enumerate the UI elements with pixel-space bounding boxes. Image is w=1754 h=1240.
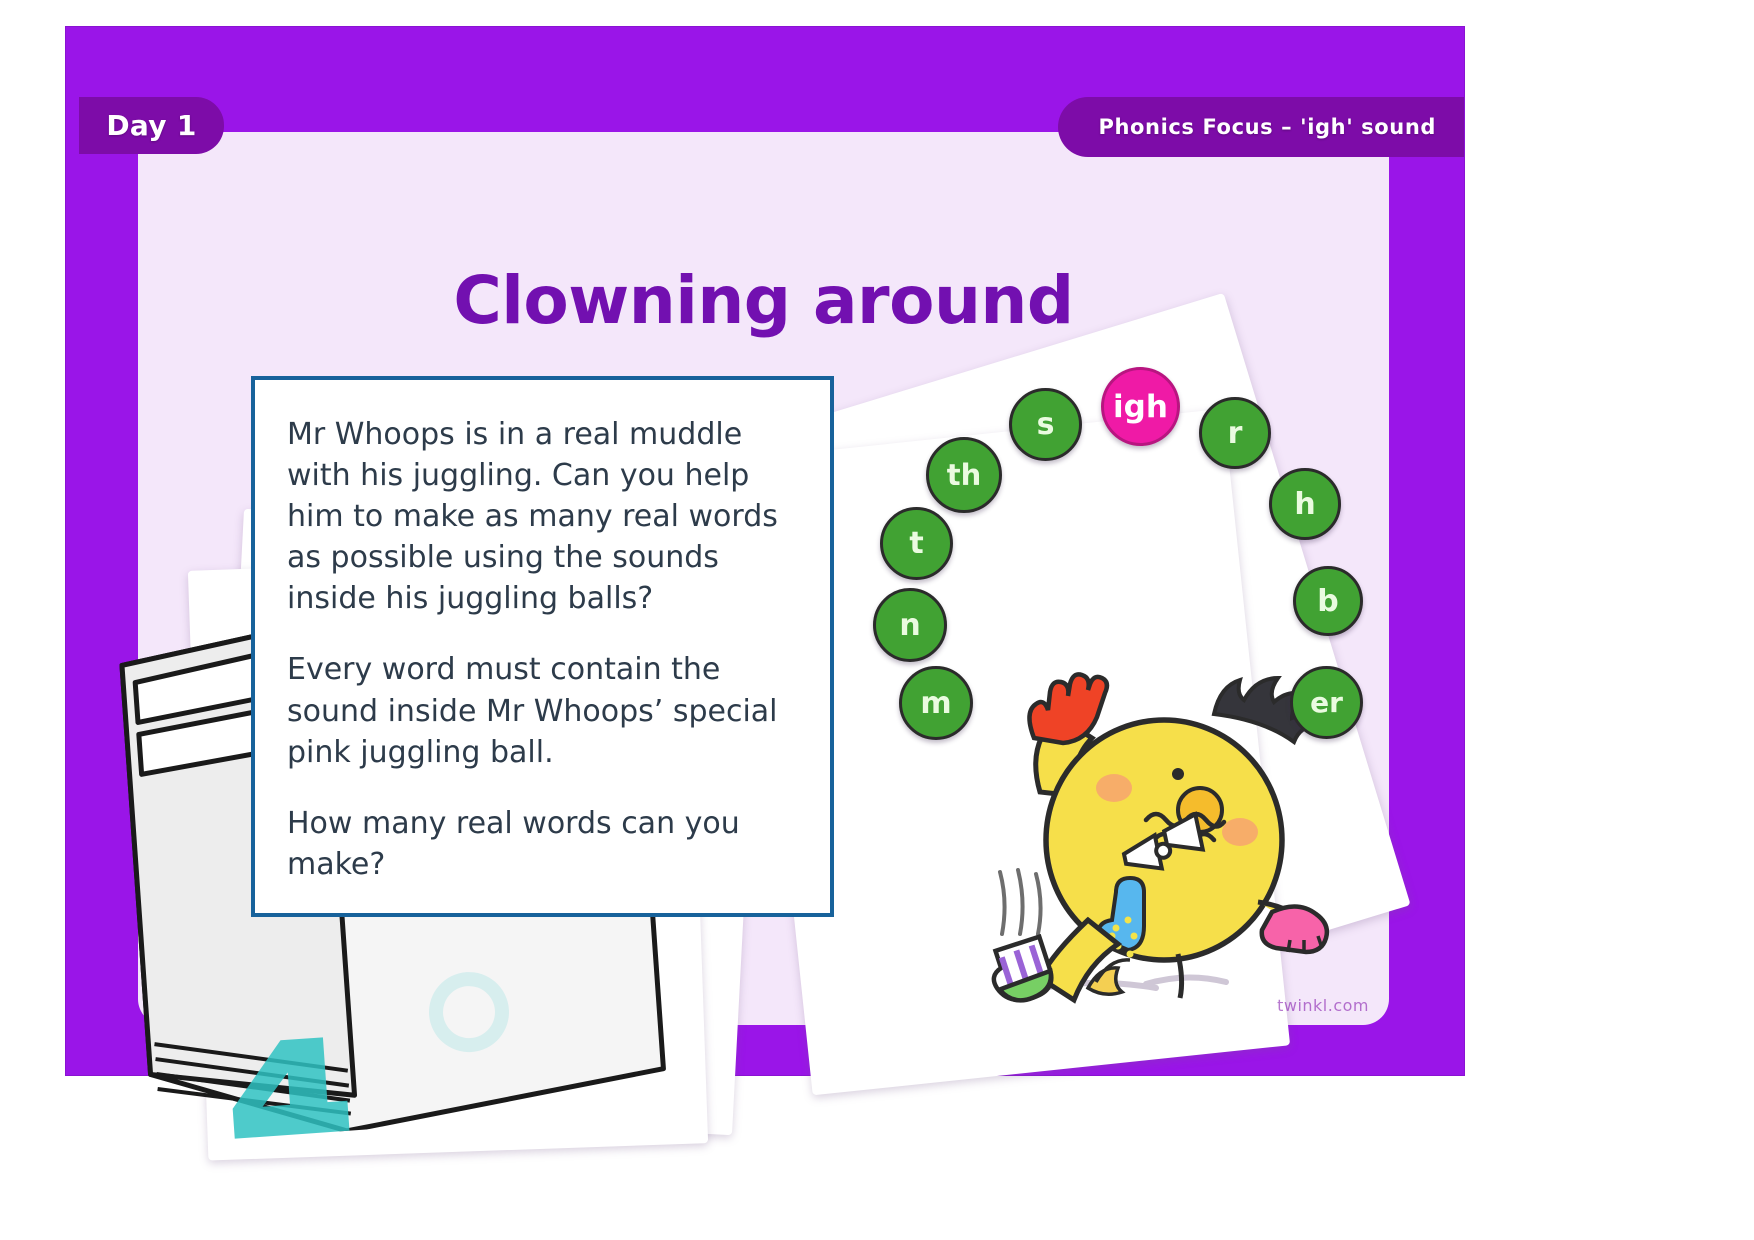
juggling-ball-igh[interactable]: igh	[1101, 367, 1180, 446]
ball-label: th	[947, 458, 982, 492]
juggling-ball-th[interactable]: th	[926, 437, 1002, 513]
juggling-ball-b[interactable]: b	[1293, 566, 1363, 636]
ball-label: s	[1037, 407, 1055, 442]
juggling-ball-n[interactable]: n	[873, 588, 947, 662]
twinkl-watermark: twinkl.com	[1277, 996, 1369, 1015]
juggling-ball-t[interactable]: t	[880, 507, 953, 580]
ball-label: er	[1310, 686, 1343, 719]
juggling-ball-r[interactable]: r	[1199, 397, 1271, 469]
juggling-ball-m[interactable]: m	[899, 666, 973, 740]
instruction-paragraph-2: Every word must contain the sound inside…	[287, 649, 802, 772]
juggling-ball-h[interactable]: h	[1269, 468, 1341, 540]
instruction-paragraph-1: Mr Whoops is in a real muddle with his j…	[287, 414, 802, 619]
ball-label: r	[1228, 416, 1243, 451]
juggling-ball-s[interactable]: s	[1009, 388, 1082, 461]
phonics-focus-label: Phonics Focus – 'igh' sound	[1098, 115, 1436, 139]
juggling-ball-er[interactable]: er	[1290, 666, 1363, 739]
day-badge-label: Day 1	[106, 109, 196, 142]
phonics-focus-badge: Phonics Focus – 'igh' sound	[1058, 97, 1464, 157]
ball-label: h	[1294, 487, 1315, 522]
ball-label: b	[1317, 584, 1338, 619]
instruction-paragraph-3: How many real words can you make?	[287, 803, 802, 885]
ball-label: igh	[1113, 389, 1168, 425]
day-badge: Day 1	[79, 97, 224, 154]
instruction-text-box: Mr Whoops is in a real muddle with his j…	[251, 376, 834, 917]
ball-label: t	[909, 526, 923, 561]
slide-canvas: Clowning around	[66, 27, 1464, 1075]
ball-label: m	[920, 686, 951, 721]
ball-label: n	[899, 608, 920, 643]
mr-whoops-clown-illustration	[928, 602, 1348, 1022]
slide-content-panel: Clowning around	[138, 132, 1389, 1025]
